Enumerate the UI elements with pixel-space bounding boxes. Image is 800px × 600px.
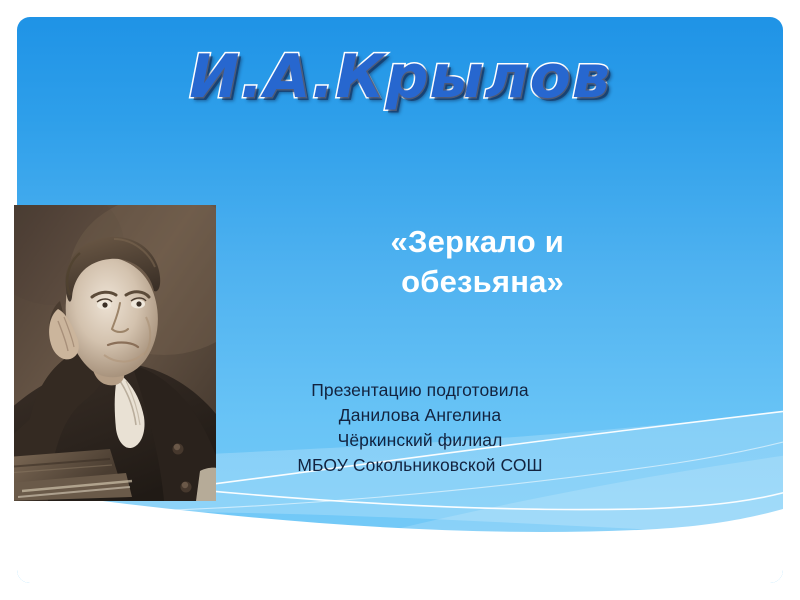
author-credits-block: Презентацию подготовила Данилова Ангелин… bbox=[160, 378, 680, 477]
subtitle-line-2: обезьяна» bbox=[296, 262, 564, 302]
author-line-3: Чёркинский филиал bbox=[160, 428, 680, 453]
author-line-1: Презентацию подготовила bbox=[160, 378, 680, 403]
presentation-slide: И.А.Крылов «Зеркало и обезьяна» Презента… bbox=[0, 0, 800, 600]
author-line-4: МБОУ Сокольниковской СОШ bbox=[160, 453, 680, 478]
slide-subtitle: «Зеркало и обезьяна» bbox=[296, 222, 564, 303]
author-line-2: Данилова Ангелина bbox=[160, 403, 680, 428]
subtitle-line-1: «Зеркало и bbox=[296, 222, 564, 262]
